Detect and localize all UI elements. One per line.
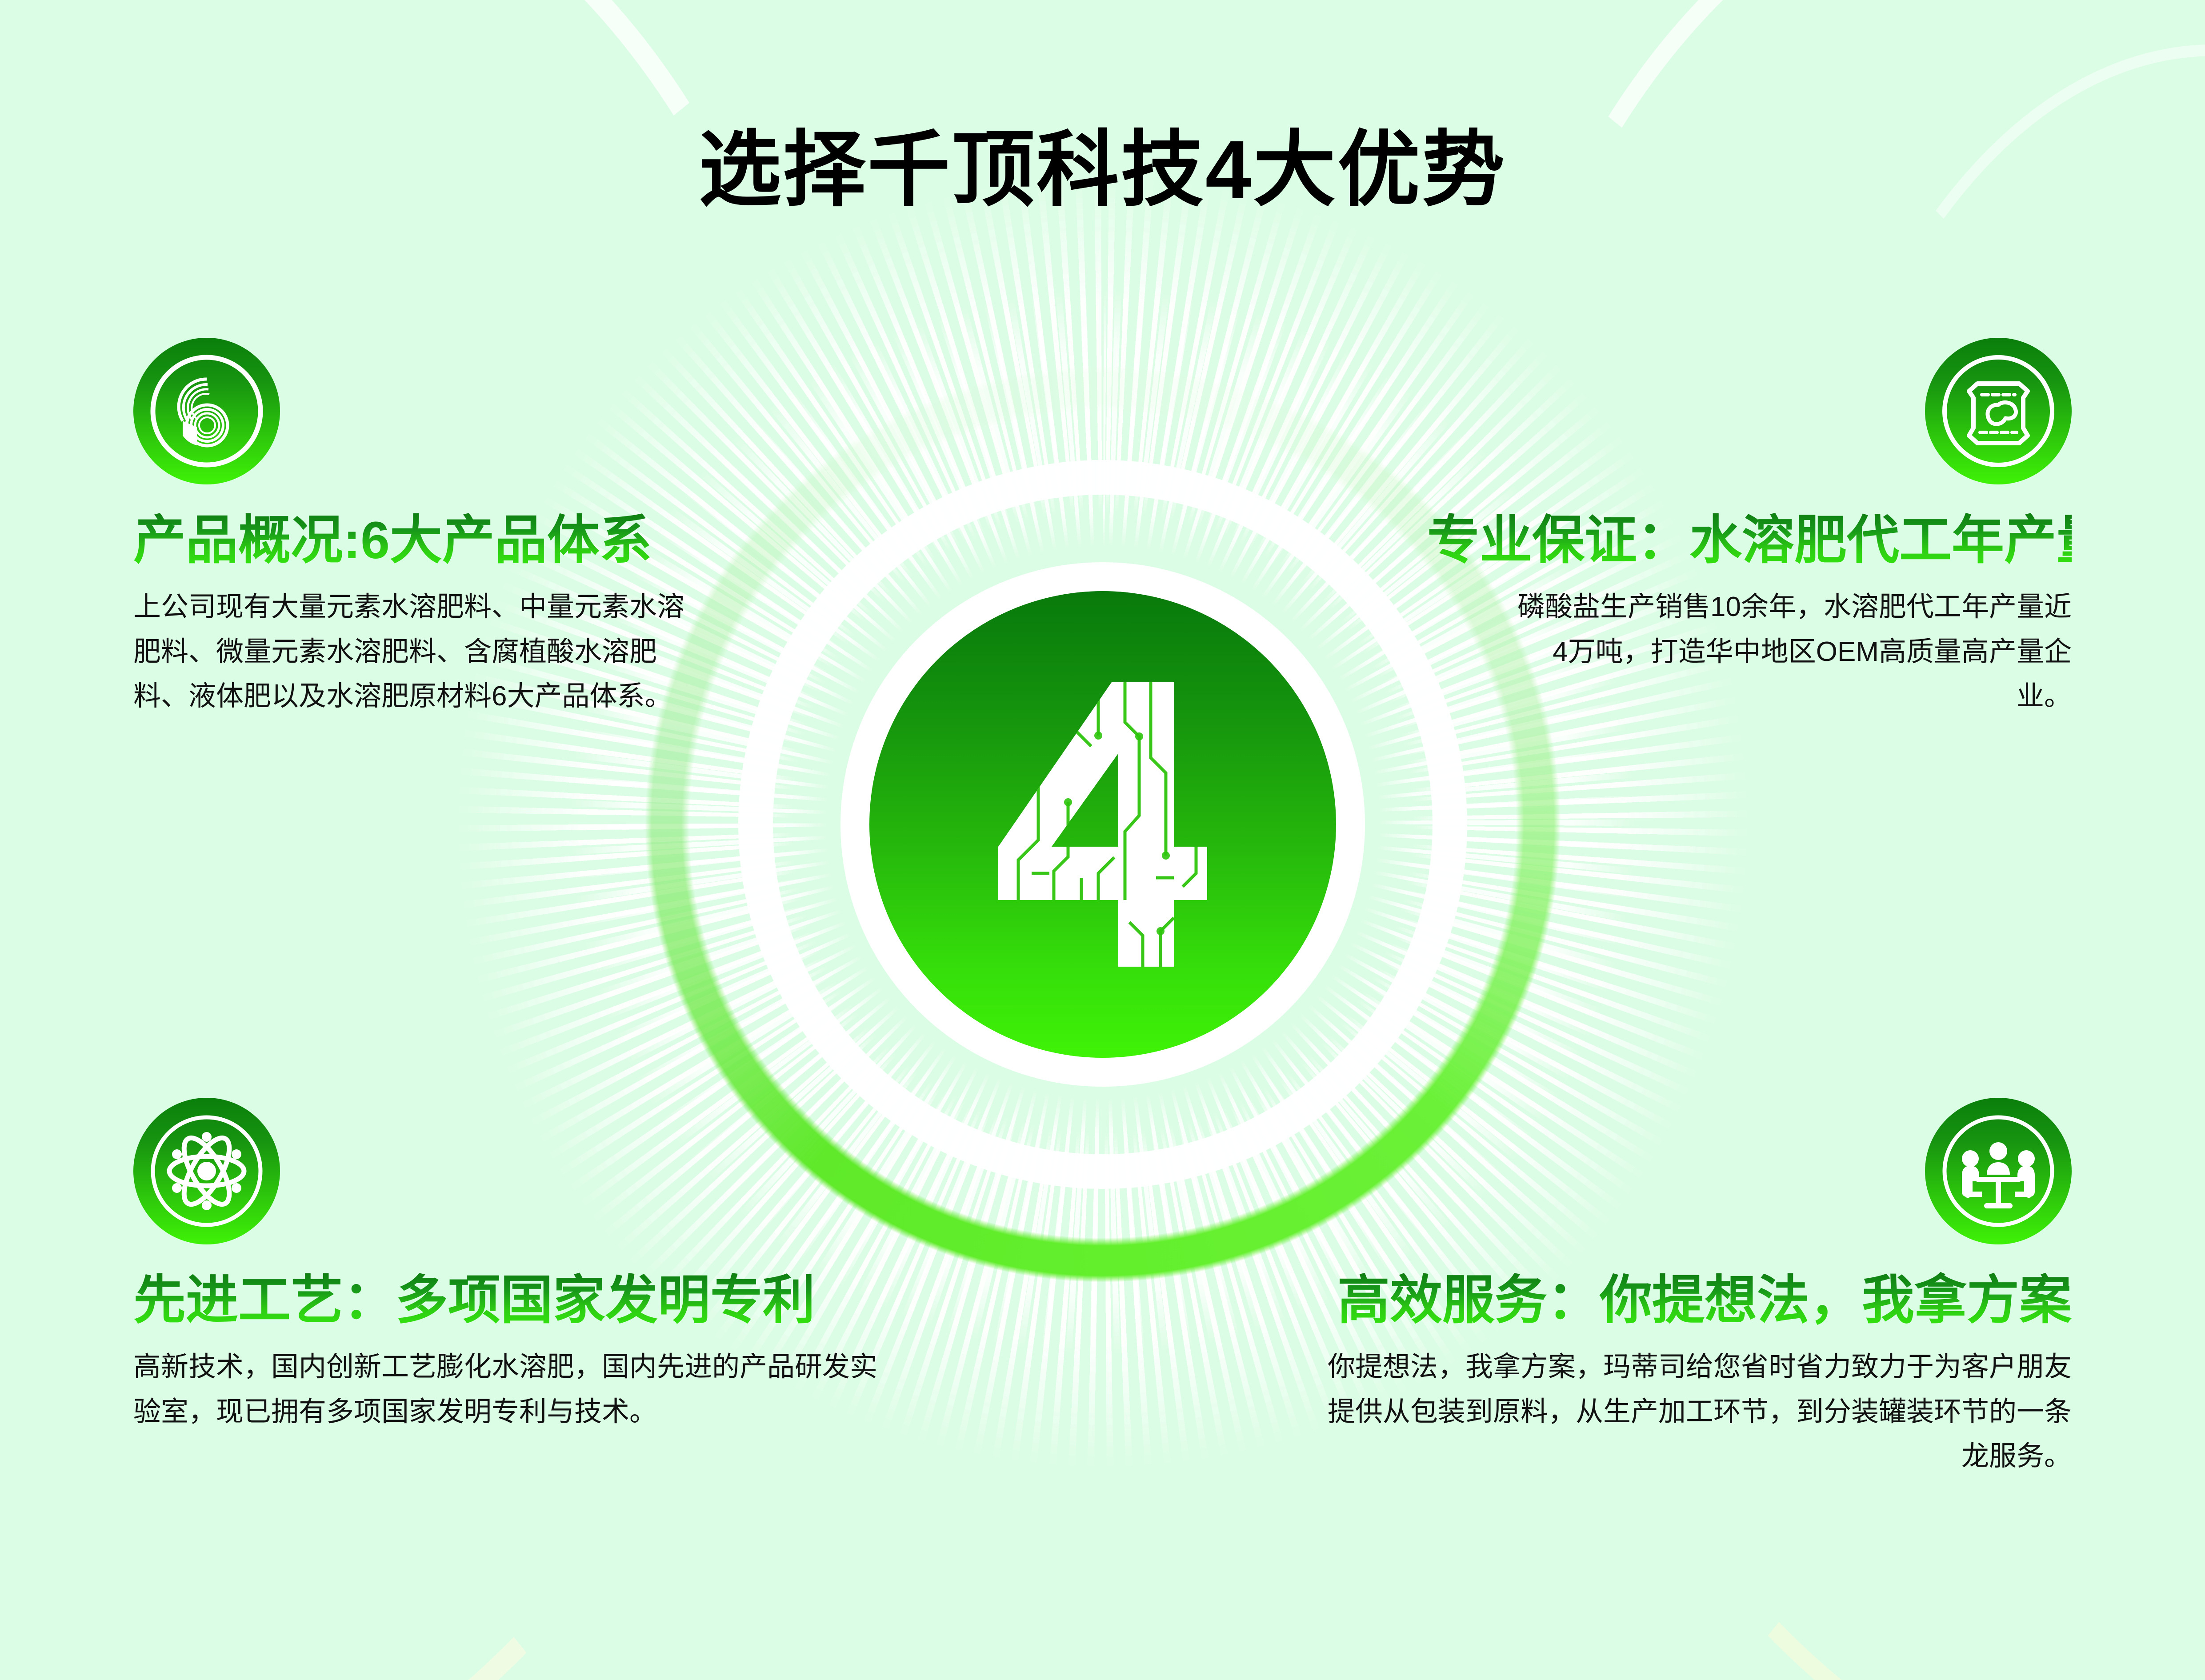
meeting-team-icon <box>1925 1098 2072 1244</box>
feature-block-professional-guarantee: 专业保证：水溶肥代工年产量近4万吨 磷酸盐生产销售10余年，水溶肥代工年产量近4… <box>1427 338 2072 719</box>
atom-icon <box>133 1098 280 1244</box>
feature-body-professional-guarantee: 磷酸盐生产销售10余年，水溶肥代工年产量近4万吨，打造华中地区OEM高质量高产量… <box>1503 585 2072 719</box>
feature-heading-advanced-technology: 先进工艺：多项国家发明专利 <box>133 1271 933 1330</box>
feature-block-efficient-service: 高效服务：你提想法，我拿方案 你提想法，我拿方案，玛蒂司给您省时省力致力于为客户… <box>1289 1098 2072 1479</box>
number-six-badge-icon <box>133 338 280 484</box>
feature-block-advanced-technology: 先进工艺：多项国家发明专利 高新技术，国内创新工艺膨化水溶肥，国内先进的产品研发… <box>133 1098 933 1434</box>
feature-heading-efficient-service: 高效服务：你提想法，我拿方案 <box>1289 1271 2072 1330</box>
feature-body-efficient-service: 你提想法，我拿方案，玛蒂司给您省时省力致力于为客户朋友提供从包装到原料，从生产加… <box>1316 1345 2072 1479</box>
feature-heading-product-overview: 产品概况:6大产品体系 <box>133 511 764 570</box>
page-title: 选择千顶科技4大优势 <box>0 102 2205 222</box>
center-number-medallion <box>869 591 1336 1058</box>
feature-body-product-overview: 上公司现有大量元素水溶肥料、中量元素水溶肥料、微量元素水溶肥料、含腐植酸水溶肥料… <box>133 585 684 719</box>
feature-body-advanced-technology: 高新技术，国内创新工艺膨化水溶肥，国内先进的产品研发实验室，现已拥有多项国家发明… <box>133 1345 898 1434</box>
feature-heading-professional-guarantee: 专业保证：水溶肥代工年产量近4万吨 <box>1427 511 2072 570</box>
fertilizer-bag-icon <box>1925 338 2072 484</box>
feature-block-product-overview: 产品概况:6大产品体系 上公司现有大量元素水溶肥料、中量元素水溶肥料、微量元素水… <box>133 338 764 719</box>
center-number-four-icon <box>965 669 1241 980</box>
